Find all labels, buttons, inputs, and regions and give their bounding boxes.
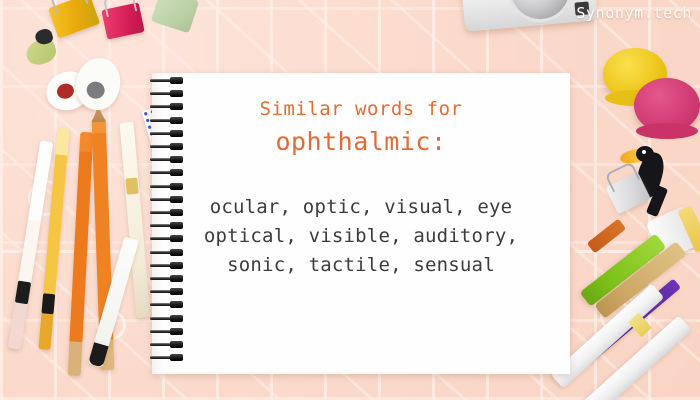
synonym-list: ocular, optic, visual, eyeoptical, visib… bbox=[152, 193, 570, 280]
site-watermark: Synonym.tech bbox=[576, 4, 692, 22]
synonym-line: sonic, tactile, sensual bbox=[152, 251, 570, 280]
heading-prefix: Similar words for bbox=[152, 98, 570, 120]
spiral-ring bbox=[150, 289, 184, 294]
spiral-ring bbox=[150, 316, 184, 321]
toucan-head bbox=[636, 146, 654, 162]
spiral-ring bbox=[150, 302, 184, 307]
spiral-ring bbox=[150, 170, 184, 175]
spiral-ring bbox=[150, 342, 184, 347]
synonym-line: optical, visible, auditory, bbox=[152, 222, 570, 251]
synonym-line: ocular, optic, visual, eye bbox=[152, 193, 570, 222]
spiral-ring bbox=[150, 355, 184, 360]
spiral-ring bbox=[150, 157, 184, 162]
query-word: ophthalmic: bbox=[152, 127, 570, 156]
spiral-ring bbox=[150, 184, 184, 189]
macaron-pink bbox=[634, 78, 700, 133]
screenshot-stage: Similar words for ophthalmic: ocular, op… bbox=[0, 0, 700, 400]
spiral-ring bbox=[150, 329, 184, 334]
toucan-eye bbox=[642, 150, 646, 154]
spiral-ring bbox=[150, 78, 184, 83]
spiral-ring bbox=[150, 91, 184, 96]
